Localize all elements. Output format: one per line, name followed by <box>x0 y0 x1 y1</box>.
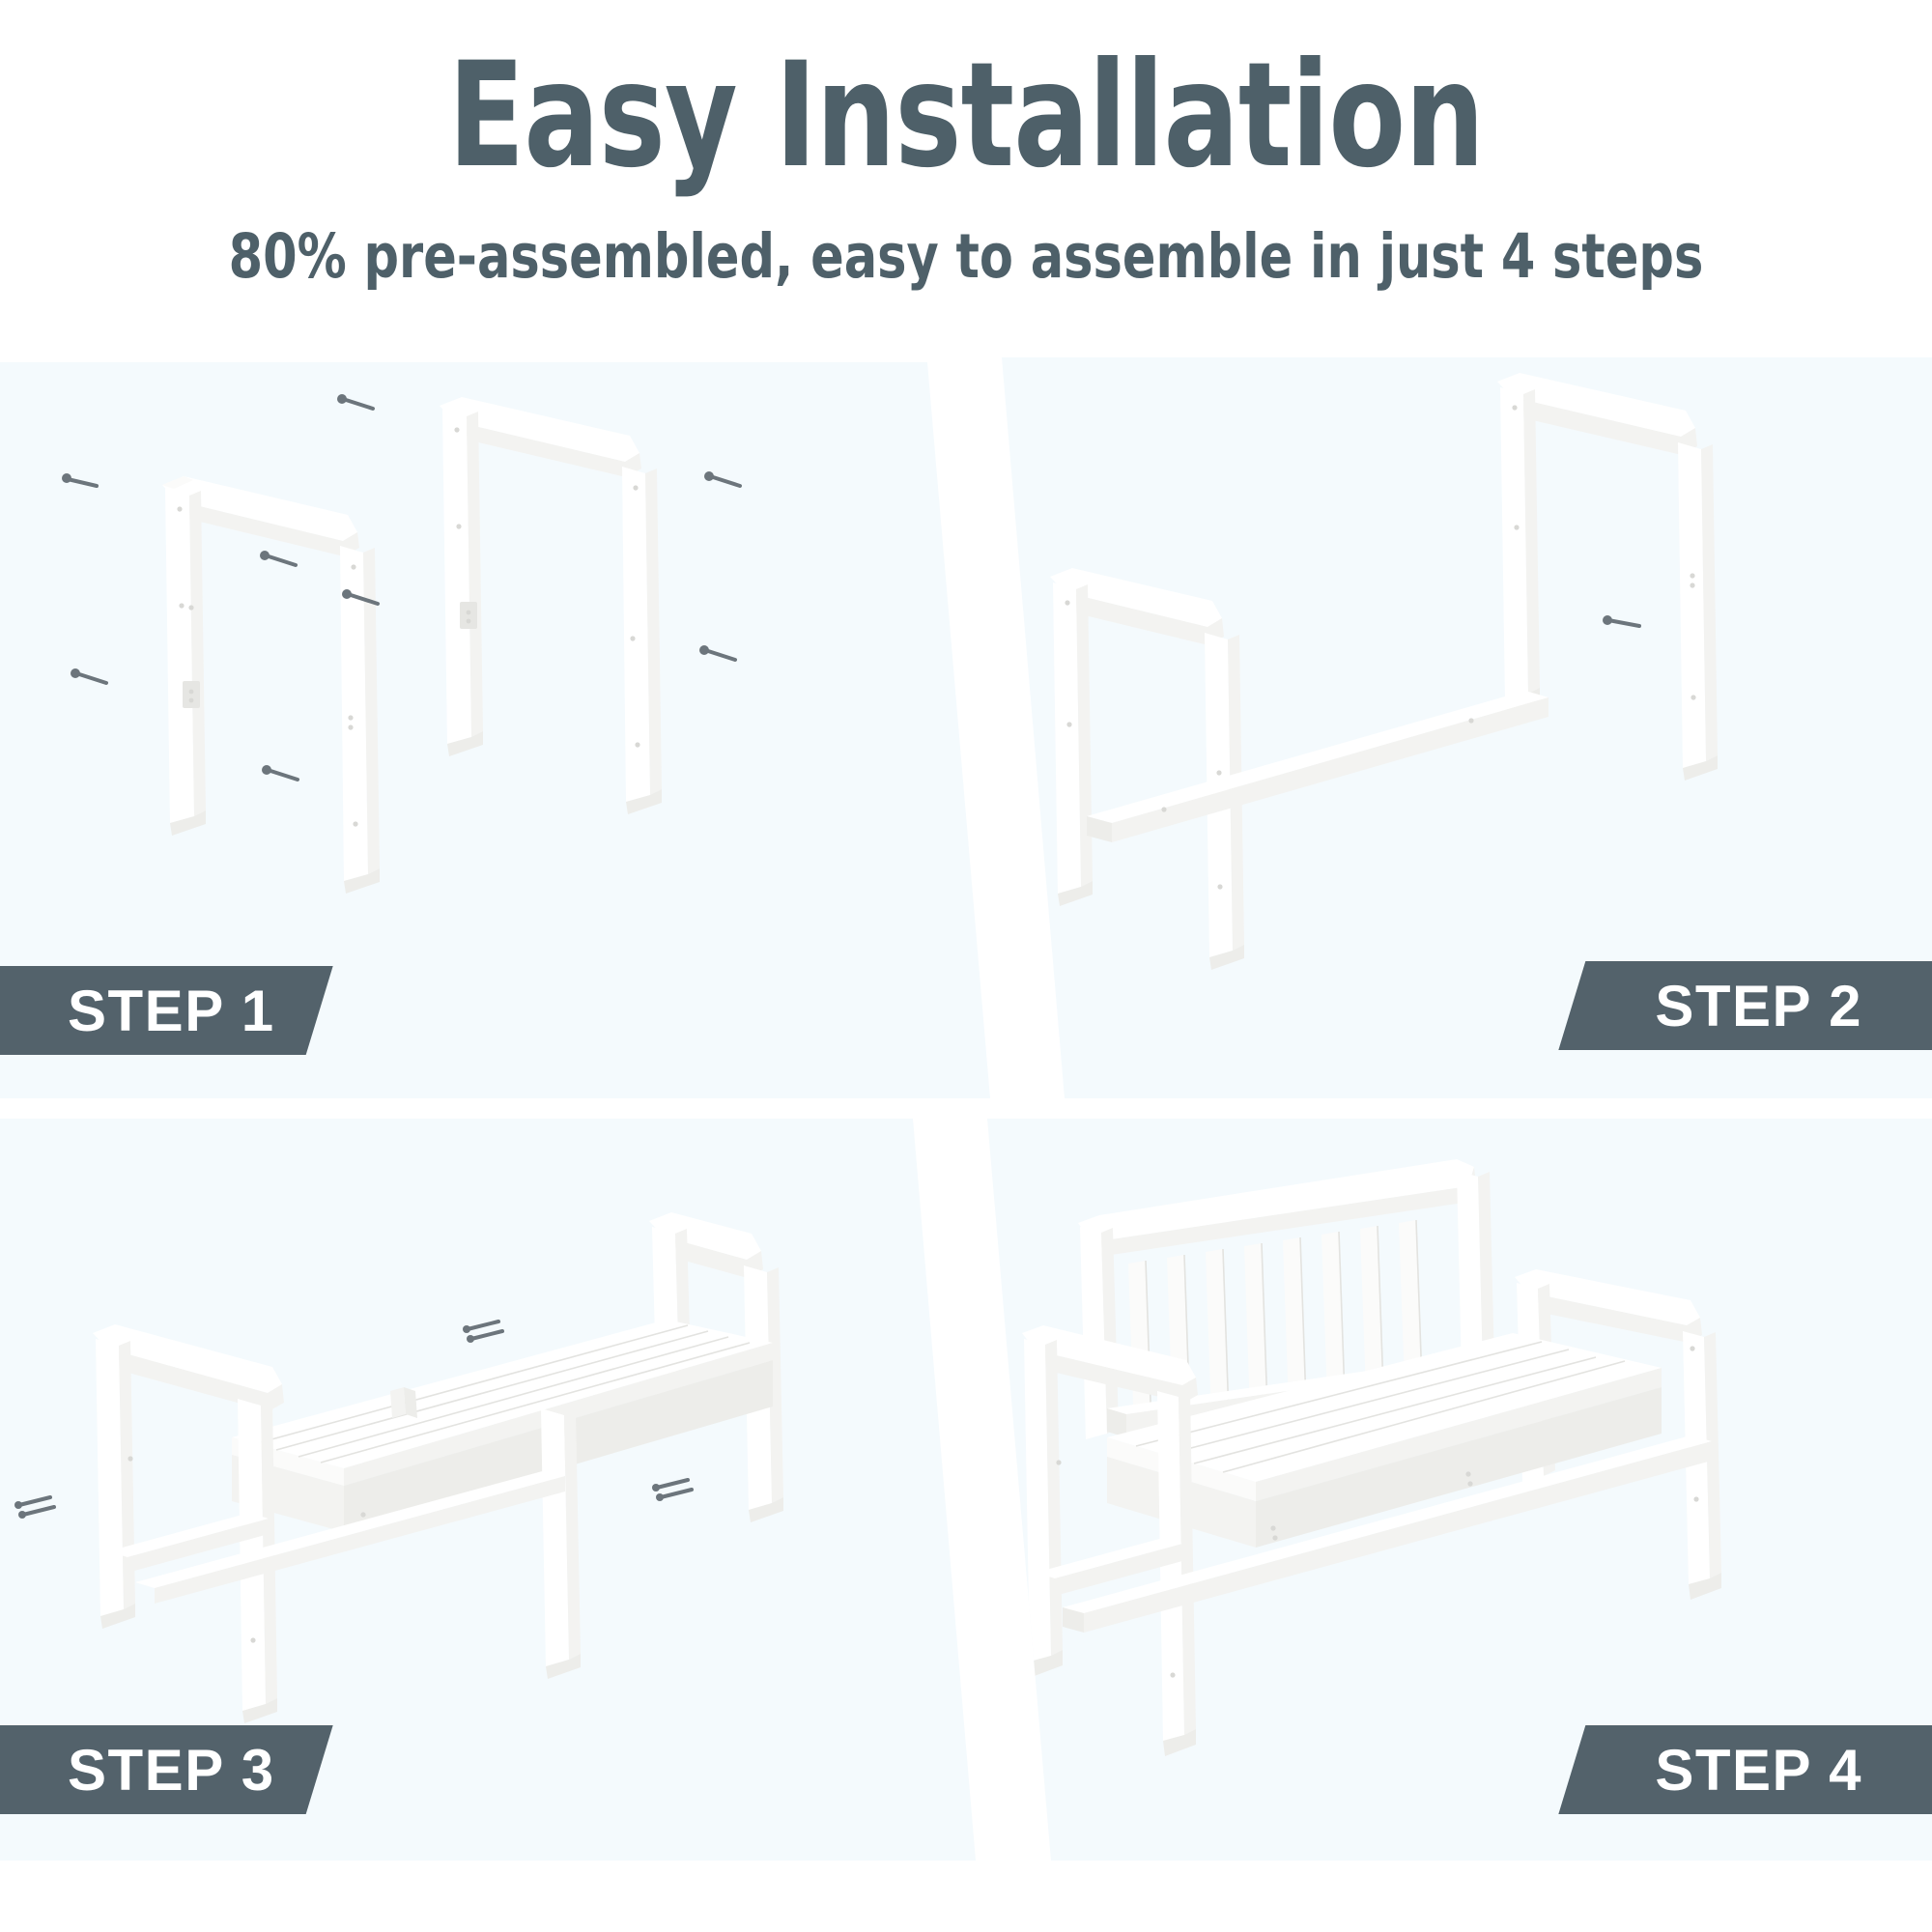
seat-deck <box>232 1320 773 1532</box>
step-label-1: STEP 1 <box>68 978 275 1044</box>
far-frame-step3 <box>649 1212 783 1522</box>
step-label-4: STEP 4 <box>1655 1737 1862 1804</box>
near-left-arm-frame <box>93 1324 284 1723</box>
header: Easy Installation 80% pre-assembled, eas… <box>0 0 1932 357</box>
page-subtitle: 80% pre-assembled, easy to assemble in j… <box>97 220 1835 294</box>
infographic-root: Easy Installation 80% pre-assembled, eas… <box>0 0 1932 1932</box>
step-label-3: STEP 3 <box>68 1737 275 1804</box>
left-armrest <box>1022 1325 1198 1756</box>
steps-grid: STEP 1 <box>0 357 1932 1861</box>
step-2-screws <box>972 615 1639 856</box>
step-badge-3: STEP 3 <box>0 1725 333 1814</box>
step-panel-3: STEP 3 <box>0 1119 976 1861</box>
step-3-screws <box>14 1321 692 1519</box>
lower-stretcher <box>1063 1435 1712 1633</box>
stretcher-rail <box>1087 691 1548 842</box>
right-armrest <box>1515 1269 1721 1600</box>
backrest-mount-tabs <box>390 1387 417 1418</box>
far-side-frame <box>1497 373 1718 781</box>
seat-deck-step4 <box>1107 1333 1662 1548</box>
step-1-screws-right <box>337 394 740 660</box>
step-panel-1: STEP 1 <box>0 362 990 1098</box>
step-badge-1: STEP 1 <box>0 966 333 1055</box>
step-badge-2: STEP 2 <box>1558 961 1932 1050</box>
right-side-frame <box>440 397 662 814</box>
backrest <box>1078 1159 1495 1439</box>
near-side-frame <box>1050 568 1244 970</box>
near-arm-top-rail <box>106 1348 284 1411</box>
step-panel-4: STEP 4 <box>927 1119 1932 1861</box>
step-panel-2: STEP 2 <box>942 357 1932 1098</box>
left-side-frame <box>162 476 380 894</box>
step-1-screws-left <box>62 473 298 780</box>
step-label-2: STEP 2 <box>1655 973 1862 1039</box>
page-title: Easy Installation <box>135 37 1797 196</box>
right-legs-step3 <box>135 1408 581 1679</box>
step-badge-4: STEP 4 <box>1558 1725 1932 1814</box>
